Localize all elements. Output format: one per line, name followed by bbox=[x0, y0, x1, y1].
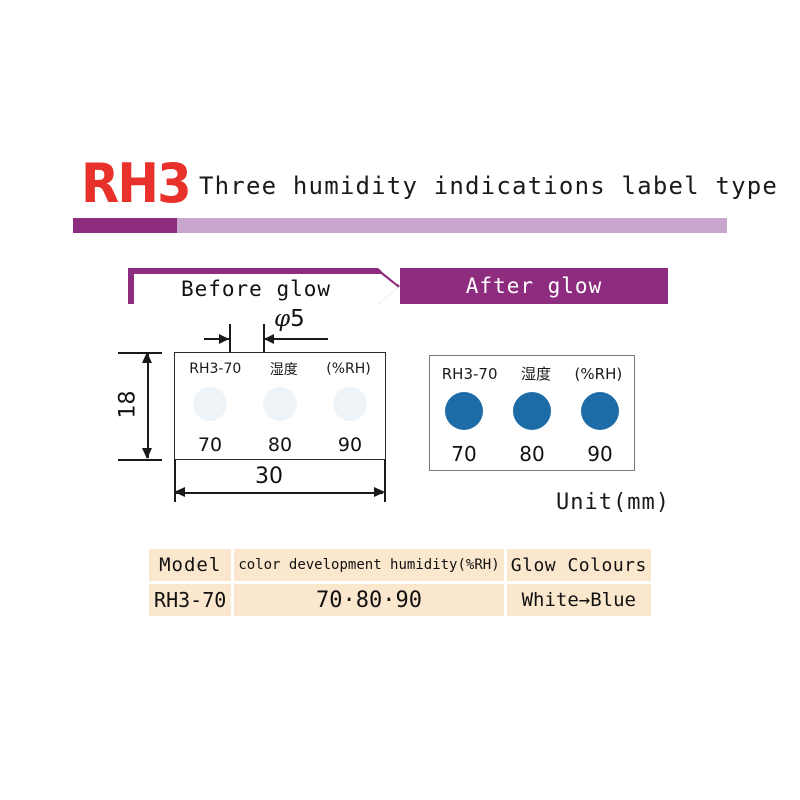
header-model: Model bbox=[149, 549, 231, 581]
indicator-dot-70 bbox=[193, 387, 227, 421]
unit-note: Unit(mm) bbox=[556, 490, 670, 515]
table-row: RH3-70 70·80·90 White→Blue bbox=[149, 584, 651, 616]
dim-width-arrow-left-icon bbox=[174, 487, 185, 497]
after-label-card-unit: (%RH) bbox=[573, 365, 625, 383]
dim-diameter-label: φ5 bbox=[274, 306, 305, 332]
cell-glow-colours: White→Blue bbox=[507, 584, 651, 616]
dim-diameter-arrow-left-icon bbox=[264, 334, 274, 344]
indicator-dot-80 bbox=[263, 387, 297, 421]
header-rule-accent bbox=[73, 218, 177, 233]
dim-diameter-value: 5 bbox=[290, 306, 305, 332]
label-card-value-1: 70 bbox=[198, 434, 222, 456]
before-glow-diagram: 18 30 φ5 RH3-70 湿度 (%RH) bbox=[118, 316, 403, 516]
after-label-card-values-row: 70 80 90 bbox=[430, 442, 634, 466]
header-glow-colours: Glow Colours bbox=[507, 549, 651, 581]
after-glow-diagram: RH3-70 湿度 (%RH) 70 80 90 bbox=[429, 355, 635, 471]
product-logo: RH3 bbox=[81, 156, 190, 212]
label-card-header-row: RH3-70 湿度 (%RH) bbox=[175, 359, 385, 379]
label-card-model: RH3-70 bbox=[187, 361, 243, 377]
phi-symbol-icon: φ bbox=[274, 306, 290, 332]
after-glow-banner: After glow bbox=[400, 268, 668, 304]
after-label-card-header-row: RH3-70 湿度 (%RH) bbox=[430, 363, 634, 384]
header-rule bbox=[73, 218, 727, 233]
after-label-card-model: RH3-70 bbox=[440, 365, 500, 383]
after-label-card-humidity-word: 湿度 bbox=[519, 363, 553, 384]
before-glow-banner: Before glow bbox=[128, 268, 400, 304]
after-label-card-value-1: 70 bbox=[451, 442, 476, 466]
header-color-development-humidity: color development humidity(%RH) bbox=[234, 549, 503, 581]
dim-height-line bbox=[147, 354, 149, 458]
label-card-indicator-dots bbox=[175, 385, 385, 423]
after-label-card-value-3: 90 bbox=[587, 442, 612, 466]
cell-humidity: 70·80·90 bbox=[234, 584, 503, 616]
dim-height-label: 18 bbox=[116, 391, 141, 419]
cell-model: RH3-70 bbox=[149, 584, 231, 616]
after-label-card-value-2: 80 bbox=[519, 442, 544, 466]
label-card-values-row: 70 80 90 bbox=[175, 434, 385, 456]
glow-state-banner: Before glow After glow bbox=[128, 268, 668, 304]
after-glow-label-card: RH3-70 湿度 (%RH) 70 80 90 bbox=[429, 355, 635, 471]
dim-width-line bbox=[176, 492, 383, 494]
before-glow-label: Before glow bbox=[131, 271, 381, 307]
after-indicator-dot-80 bbox=[513, 392, 551, 430]
page-canvas: RH3 Three humidity indications label typ… bbox=[0, 0, 800, 800]
dim-width-arrow-right-icon bbox=[374, 487, 385, 497]
before-glow-label-card: RH3-70 湿度 (%RH) 70 80 90 bbox=[174, 352, 386, 460]
label-card-value-2: 80 bbox=[268, 434, 292, 456]
dim-height-arrow-down-icon bbox=[142, 448, 152, 459]
dim-height-arrow-up-icon bbox=[142, 352, 152, 363]
dim-height-ext-top bbox=[118, 352, 162, 354]
after-indicator-dot-70 bbox=[445, 392, 483, 430]
page-header: RH3 Three humidity indications label typ… bbox=[73, 158, 733, 216]
indicator-dot-90 bbox=[333, 387, 367, 421]
after-indicator-dot-90 bbox=[581, 392, 619, 430]
spec-table: Model color development humidity(%RH) Gl… bbox=[146, 546, 654, 619]
label-card-humidity-word: 湿度 bbox=[268, 359, 300, 379]
table-header-row: Model color development humidity(%RH) Gl… bbox=[149, 549, 651, 581]
dim-diameter-arrow-right-icon bbox=[219, 334, 229, 344]
after-glow-label: After glow bbox=[466, 274, 602, 298]
label-card-unit: (%RH) bbox=[324, 361, 372, 377]
dim-width-label: 30 bbox=[255, 464, 283, 489]
after-label-card-indicator-dots bbox=[430, 390, 634, 432]
dim-height-ext-bottom bbox=[118, 459, 162, 461]
label-card-value-3: 90 bbox=[338, 434, 362, 456]
page-title: Three humidity indications label type bbox=[199, 170, 778, 202]
